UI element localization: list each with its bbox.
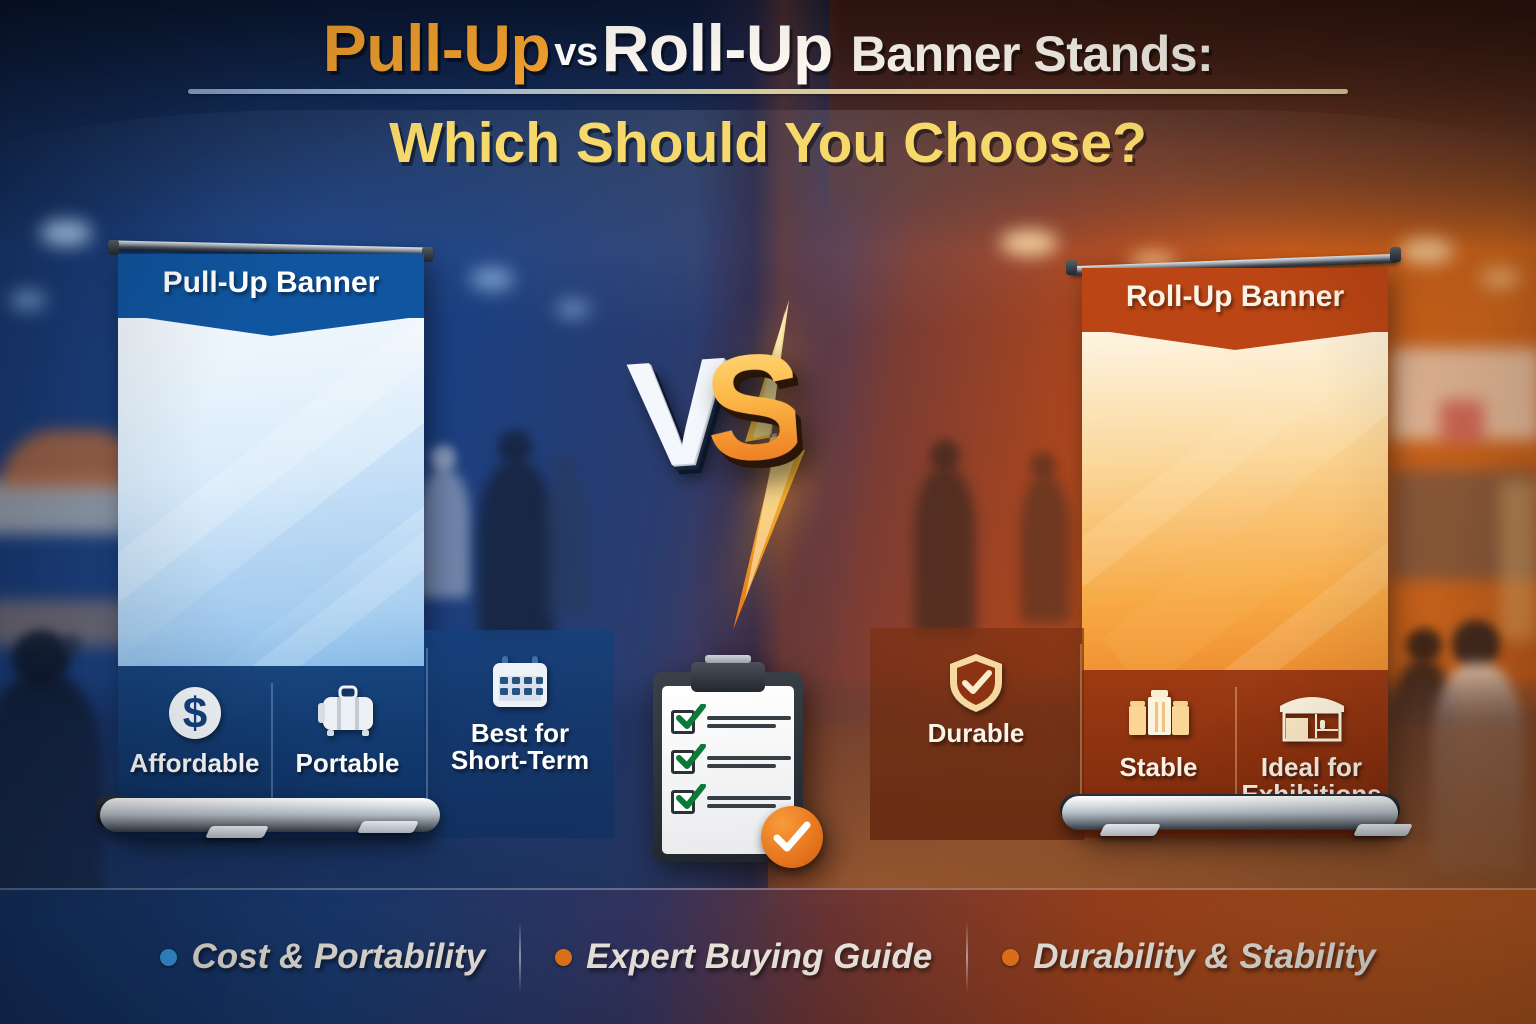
vs-letter-s: S bbox=[699, 320, 801, 494]
roll-up-banner-stand: Roll-Up Banner bbox=[1060, 238, 1410, 858]
text-line bbox=[707, 796, 791, 800]
svg-text:$: $ bbox=[182, 689, 206, 738]
banner-foot bbox=[1353, 824, 1413, 836]
highlight-expert-buying-guide: Expert Buying Guide bbox=[521, 937, 966, 977]
highlight-durability-stability: Durability & Stability bbox=[968, 937, 1409, 977]
feature-best-for-short-term: Best for Short-Term bbox=[426, 636, 614, 773]
crowd-silhouette-head bbox=[1452, 620, 1500, 668]
crowd-silhouette bbox=[914, 466, 976, 636]
rail-end-cap bbox=[1390, 247, 1401, 262]
title-vs: vs bbox=[550, 30, 602, 74]
background-booth bbox=[1500, 480, 1536, 640]
pull-up-header-bar: Pull-Up Banner bbox=[118, 254, 424, 318]
ceiling-light bbox=[10, 290, 46, 310]
vs-badge: VS bbox=[624, 329, 800, 490]
background-booth bbox=[1440, 400, 1484, 444]
pull-up-heading: Pull-Up Banner bbox=[118, 266, 424, 300]
title-pullup: Pull-Up bbox=[323, 11, 550, 85]
feature-durable: Durable bbox=[870, 636, 1082, 747]
clipboard-checklist-icon bbox=[653, 672, 803, 862]
header-wedge bbox=[118, 310, 424, 336]
check-badge-icon bbox=[761, 806, 823, 868]
checklist-text-lines bbox=[707, 712, 791, 732]
feature-label: Stable bbox=[1119, 754, 1197, 781]
weights-stable-icon bbox=[1126, 686, 1192, 748]
title-rollup: Roll-Up bbox=[602, 11, 833, 85]
crowd-silhouette-head bbox=[60, 634, 82, 656]
shield-check-icon bbox=[946, 652, 1006, 714]
header: Pull-UpvsRoll-Up Banner Stands: Which Sh… bbox=[0, 14, 1536, 176]
page-title: Pull-UpvsRoll-Up Banner Stands: bbox=[0, 14, 1536, 83]
checkbox bbox=[671, 710, 695, 734]
roll-up-banner-sheet: Roll-Up Banner bbox=[1082, 268, 1388, 838]
feature-label: Affordable bbox=[130, 750, 260, 777]
highlight-label: Cost & Portability bbox=[191, 937, 485, 977]
calendar-icon bbox=[489, 652, 551, 714]
check-icon bbox=[676, 784, 706, 810]
crowd-silhouette-head bbox=[1406, 628, 1442, 662]
clipboard-clamp-top bbox=[705, 655, 751, 663]
text-line bbox=[707, 764, 776, 768]
feature-label-line1: Ideal for bbox=[1261, 754, 1362, 781]
title-suffix: Banner Stands: bbox=[851, 26, 1214, 82]
highlight-cost-portability: Cost & Portability bbox=[126, 937, 519, 977]
title-divider bbox=[188, 89, 1348, 94]
text-line bbox=[707, 756, 791, 760]
suitcase-icon bbox=[315, 682, 381, 744]
ceiling-light bbox=[1480, 268, 1520, 288]
roll-up-heading: Roll-Up Banner bbox=[1082, 280, 1388, 314]
checkbox bbox=[671, 790, 695, 814]
feature-label: Durable bbox=[928, 720, 1025, 747]
exhibition-booth-icon bbox=[1276, 686, 1348, 748]
feature-label: Portable bbox=[295, 750, 399, 777]
checklist-item bbox=[671, 790, 791, 814]
feature-label-line2: Short-Term bbox=[451, 747, 589, 774]
pull-up-banner-sheet: Pull-Up Banner $ Affordable bbox=[118, 254, 424, 838]
roll-up-header-bar: Roll-Up Banner bbox=[1082, 268, 1388, 332]
text-line bbox=[707, 804, 776, 808]
page-subtitle: Which Should You Choose? bbox=[0, 110, 1536, 176]
pull-up-banner-stand: Pull-Up Banner $ Affordable bbox=[104, 238, 624, 858]
ceiling-light bbox=[40, 220, 92, 246]
clipboard-clamp bbox=[691, 662, 765, 692]
checklist-text-lines bbox=[707, 752, 791, 772]
checklist-item bbox=[671, 750, 791, 774]
bullet-dot-icon bbox=[1002, 949, 1019, 966]
highlight-label: Expert Buying Guide bbox=[586, 937, 932, 977]
bottom-highlights-bar: Cost & Portability Expert Buying Guide D… bbox=[0, 888, 1536, 1024]
checkbox bbox=[671, 750, 695, 774]
checklist-item bbox=[671, 710, 791, 734]
bullet-dot-icon bbox=[160, 949, 177, 966]
dollar-coin-icon: $ bbox=[166, 682, 224, 744]
ceiling-light bbox=[1000, 230, 1058, 256]
text-line bbox=[707, 724, 776, 728]
check-icon bbox=[676, 704, 706, 730]
banner-foot bbox=[205, 826, 269, 838]
feature-label-line1: Best for bbox=[471, 720, 569, 747]
header-wedge bbox=[1082, 324, 1388, 350]
highlight-label: Durability & Stability bbox=[1033, 937, 1375, 977]
check-icon bbox=[676, 744, 706, 770]
infographic-canvas: Pull-UpvsRoll-Up Banner Stands: Which Sh… bbox=[0, 0, 1536, 1024]
banner-foot bbox=[1099, 824, 1161, 836]
banner-foot bbox=[357, 821, 419, 833]
rail-end-cap bbox=[1066, 260, 1077, 275]
bullet-dot-icon bbox=[555, 949, 572, 966]
rail-end-cap bbox=[108, 240, 119, 255]
text-line bbox=[707, 716, 791, 720]
